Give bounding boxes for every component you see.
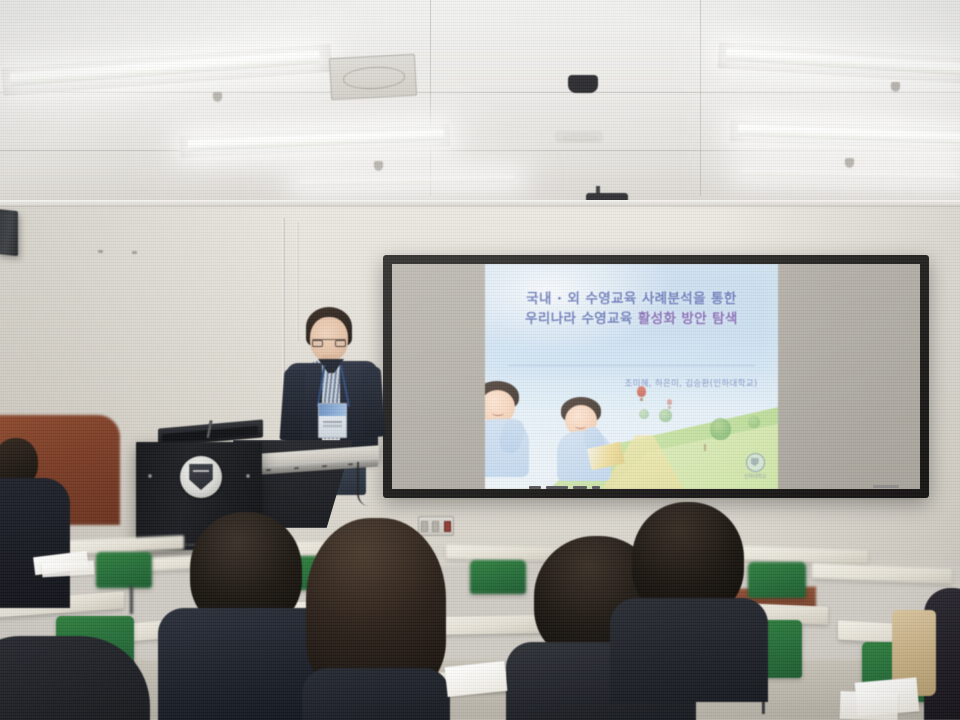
audience-body [302, 668, 450, 720]
display-bezel-controls[interactable] [529, 484, 687, 489]
podium-crest-emblem [180, 456, 222, 498]
display-control-button[interactable] [546, 486, 568, 489]
display-control-button[interactable] [529, 486, 541, 489]
rail-detail [266, 469, 271, 471]
slide-title-line-2-highlight: 활성화 방안 탐색 [638, 311, 738, 327]
wall-mounted-display-panel[interactable]: 국내 · 외 수영교육 사례분석을 통한 우리나라 수영교육 활성화 방안 탐색… [383, 255, 929, 498]
podium-shield-icon [189, 464, 213, 490]
chair-leg [130, 586, 133, 614]
projected-slide: 국내 · 외 수영교육 사례분석을 통한 우리나라 수영교육 활성화 방안 탐색… [485, 264, 778, 489]
presenter-arm [360, 366, 386, 437]
rail-detail [348, 463, 353, 465]
audience-body [0, 636, 150, 720]
slide-divider-rule [508, 365, 754, 366]
rail-detail [294, 467, 299, 469]
audience-member-center [300, 518, 450, 720]
projector-ceiling-mount [568, 75, 598, 93]
lecture-chair [96, 552, 152, 588]
university-name: 인하대학교 [741, 473, 769, 480]
podium-bolt [246, 474, 250, 478]
podium-bolt [148, 474, 152, 478]
university-crest-icon [746, 453, 765, 472]
audience-member-right [614, 502, 760, 682]
rail-detail [322, 465, 327, 467]
printed-handout [840, 691, 899, 720]
slide-title-line-2: 우리나라 수영교육 활성화 방안 탐색 [485, 309, 778, 329]
ceiling-seam [0, 150, 960, 151]
sprinkler-head [213, 92, 222, 101]
audience-member-front-left [0, 438, 88, 628]
display-screen-surface: 국내 · 외 수영교육 사례분석을 통한 우리나라 수영교육 활성화 방안 탐색… [392, 264, 920, 489]
wall-speaker [0, 209, 18, 256]
slide-title: 국내 · 외 수영교육 사례분석을 통한 우리나라 수영교육 활성화 방안 탐색 [485, 289, 778, 330]
slide-illustration-child [485, 381, 541, 477]
sprinkler-head [891, 82, 900, 91]
audience-body [0, 478, 70, 608]
conference-name-badge [318, 403, 347, 438]
ceiling-seam [430, 0, 431, 196]
ceiling-seam [0, 92, 960, 93]
display-power-led [592, 486, 600, 489]
display-brand-mark [873, 485, 899, 488]
ceiling-seam [700, 0, 701, 196]
slide-illustration-tree [639, 409, 649, 419]
podium-cable [357, 462, 377, 506]
slide-illustration-tree-trunk [704, 444, 706, 451]
sprinkler-head [374, 161, 383, 170]
printed-handout [445, 661, 508, 697]
slide-title-line-2-a: 우리나라 수영교육 [525, 311, 638, 327]
conference-photo: 국내 · 외 수영교육 사례분석을 통한 우리나라 수영교육 활성화 방안 탐색… [0, 0, 960, 720]
student-desk [812, 563, 952, 584]
university-logo: 인하대학교 [741, 453, 769, 480]
display-control-button[interactable] [573, 486, 587, 489]
sprinkler-head [845, 158, 854, 167]
printed-handout [42, 561, 95, 578]
audience-member-foreground-left [0, 636, 150, 720]
wall-fixture-dot [132, 251, 137, 254]
presenter-glasses [312, 339, 346, 345]
wall-fixture-dot [98, 250, 103, 253]
slide-title-line-1: 국내 · 외 수영교육 사례분석을 통한 [485, 289, 778, 309]
ceiling-air-vent [329, 54, 417, 100]
slide-illustration-child [555, 397, 627, 481]
audience-body [610, 598, 768, 702]
ceiling-air-vent [556, 132, 602, 142]
slide-authors: 조미혜, 하은미, 김승환(인하대학교) [625, 377, 758, 389]
slide-illustration-balloon [667, 399, 672, 405]
slide-illustration-tree [710, 418, 731, 440]
child-smile [575, 423, 586, 429]
slide-illustration-tree [659, 409, 672, 422]
